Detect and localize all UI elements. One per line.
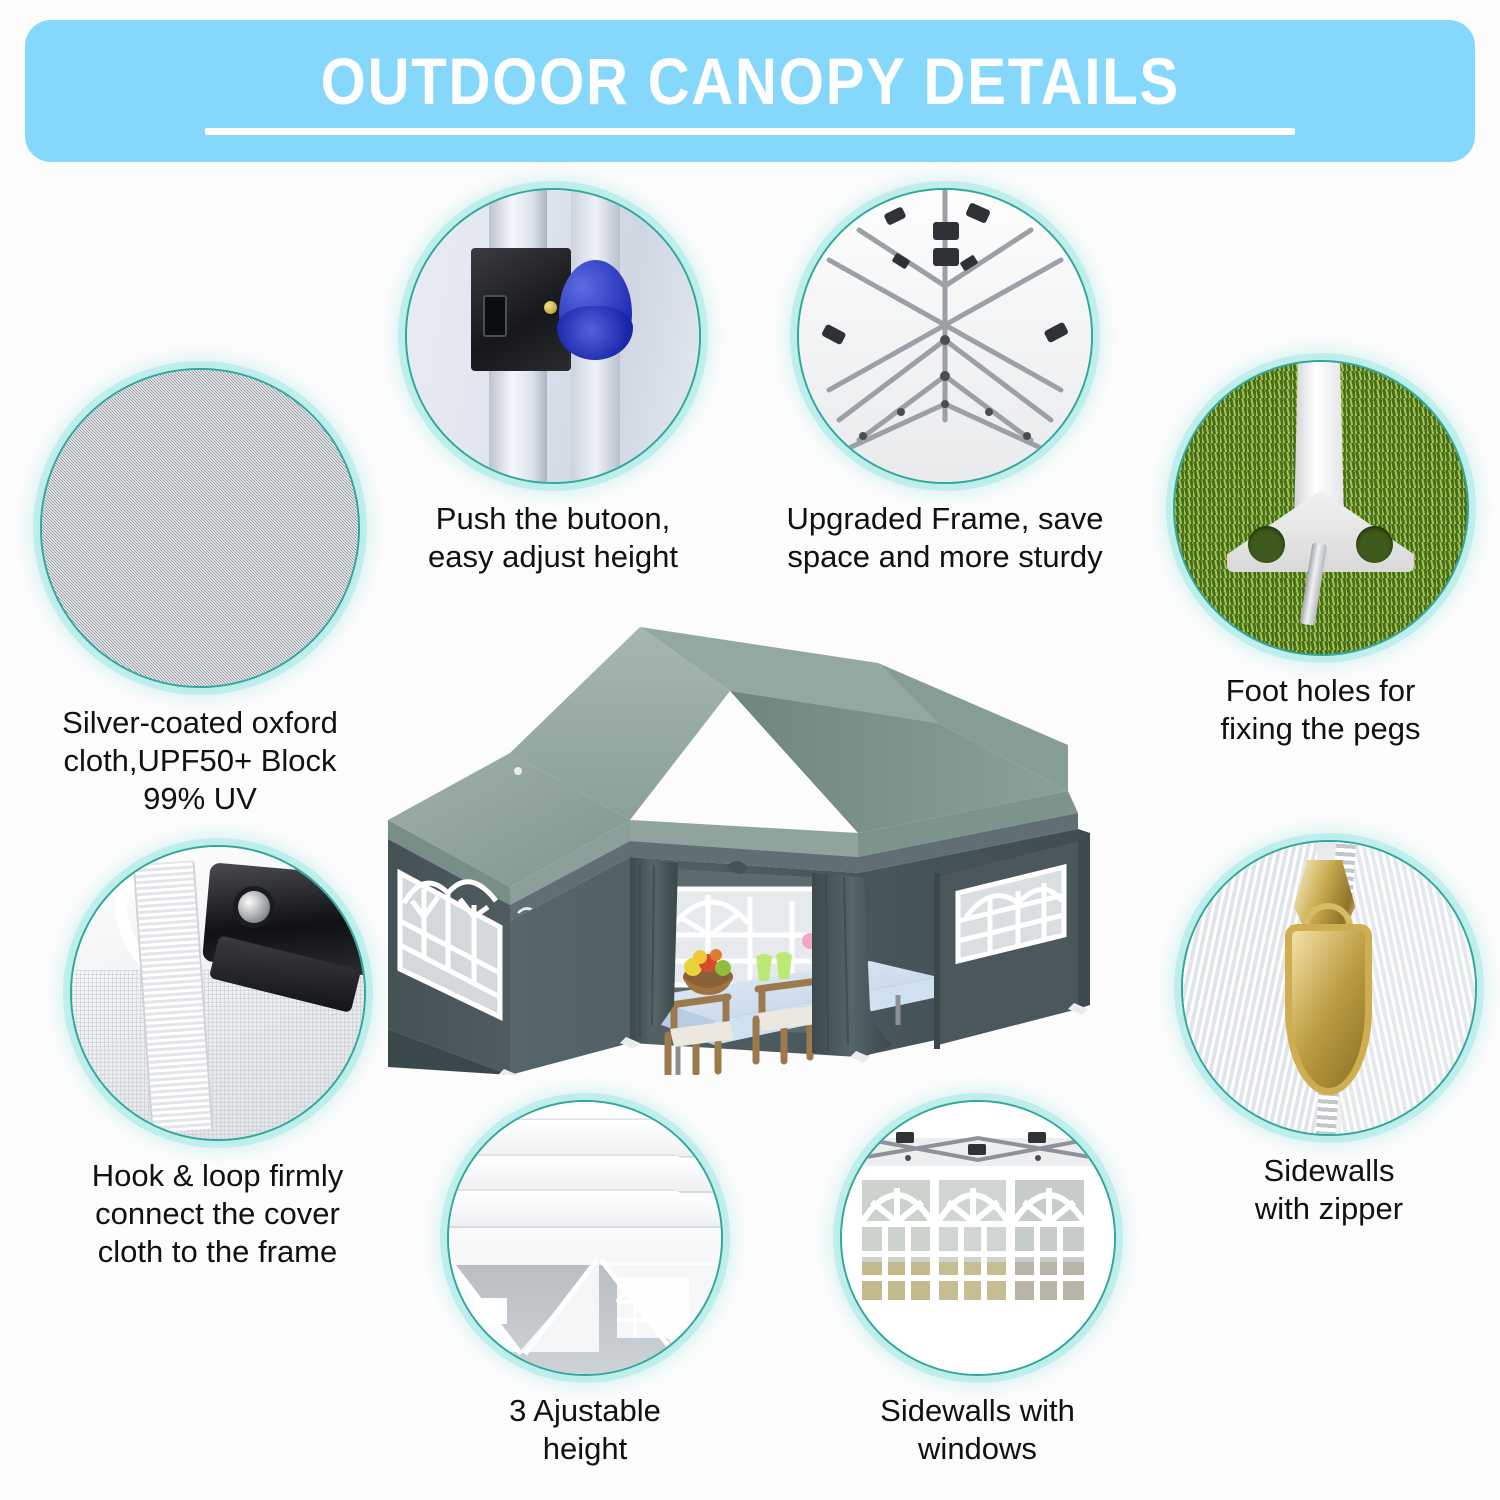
product-canopy-image: [378, 605, 1118, 1075]
feature-caption: Silver-coated oxford cloth,UPF50+ Block …: [62, 704, 338, 817]
zipper-pull-icon: [1181, 840, 1477, 1136]
sidewall-windows-icon: [840, 1100, 1116, 1376]
feature-caption: 3 Ajustable height: [509, 1392, 661, 1468]
feature-caption: Push the butoon, easy adjust height: [428, 500, 678, 576]
feature-caption: Upgraded Frame, save space and more stur…: [786, 500, 1103, 576]
feature-silver-coated-cloth[interactable]: Silver-coated oxford cloth,UPF50+ Block …: [25, 368, 375, 817]
feature-caption: Hook & loop firmly connect the cover clo…: [92, 1157, 344, 1270]
foot-plate-peg-icon: [1173, 360, 1469, 656]
push-button-pole-icon: [405, 188, 701, 484]
feature-foot-holes[interactable]: Foot holes for fixing the pegs: [1148, 360, 1493, 748]
feature-hook-and-loop[interactable]: Hook & loop firmly connect the cover clo…: [45, 845, 390, 1270]
canopy-frame-icon: [797, 188, 1093, 484]
title-underline: [205, 128, 1295, 135]
feature-sidewalls-windows[interactable]: Sidewalls with windows: [825, 1100, 1130, 1468]
feature-upgraded-frame[interactable]: Upgraded Frame, save space and more stur…: [780, 188, 1110, 576]
feature-sidewalls-zipper[interactable]: Sidewalls with zipper: [1158, 840, 1500, 1228]
oxford-cloth-swatch-icon: [40, 368, 360, 688]
page-title: OUTDOOR CANOPY DETAILS: [320, 48, 1179, 114]
feature-caption: Sidewalls with zipper: [1255, 1152, 1403, 1228]
feature-caption: Sidewalls with windows: [880, 1392, 1075, 1468]
page-header-banner: OUTDOOR CANOPY DETAILS: [25, 20, 1475, 162]
feature-push-button[interactable]: Push the butoon, easy adjust height: [398, 188, 708, 576]
hook-loop-strap-icon: [70, 845, 366, 1141]
feature-caption: Foot holes for fixing the pegs: [1221, 672, 1421, 748]
roof-height-layers-icon: [447, 1100, 723, 1376]
feature-adjustable-height[interactable]: 3 Ajustable height: [435, 1100, 735, 1468]
